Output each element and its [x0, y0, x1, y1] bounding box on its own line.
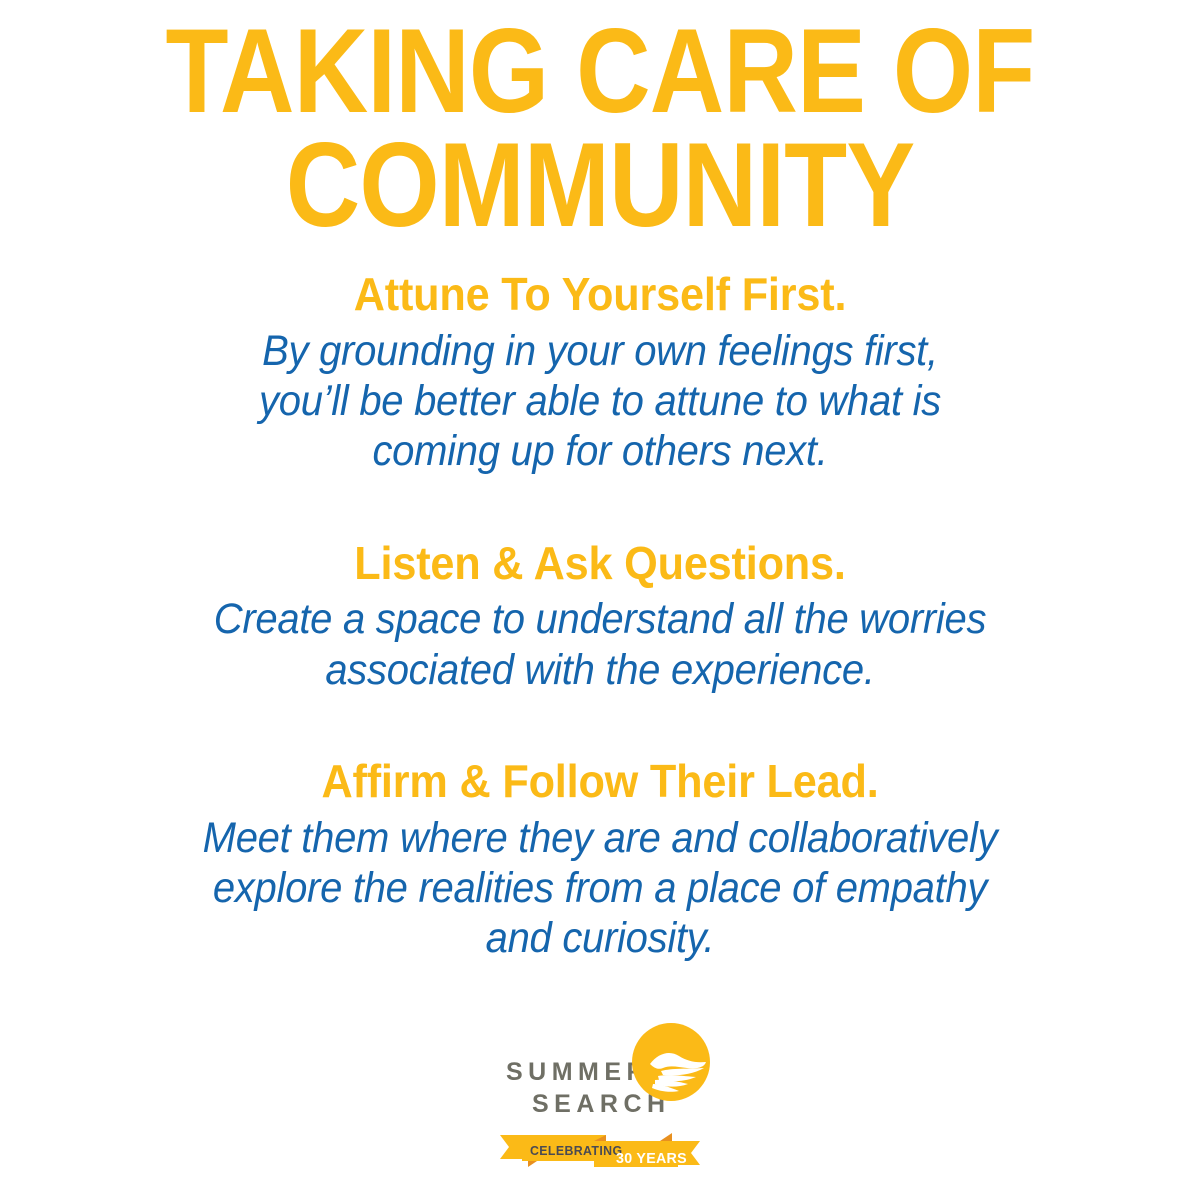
summer-search-logo: SUMMER SEARCH: [0, 1018, 1200, 1170]
sun-wing-icon: [632, 1023, 710, 1101]
logo-word-summer: SUMMER: [506, 1056, 650, 1088]
section-heading: Affirm & Follow Their Lead.: [36, 757, 1164, 807]
section-body: By grounding in your own feelings first,…: [42, 326, 1158, 477]
sections-container: Attune To Yourself First. By grounding i…: [0, 270, 1200, 963]
section-heading: Listen & Ask Questions.: [36, 539, 1164, 589]
title-block: TAKING CARE OF COMMUNITY: [0, 14, 1200, 242]
logo-mark-row: SUMMER SEARCH: [480, 1018, 720, 1118]
section-attune: Attune To Yourself First. By grounding i…: [0, 270, 1200, 477]
ribbon-label-celebrating: CELEBRATING: [530, 1143, 622, 1158]
section-heading: Attune To Yourself First.: [36, 270, 1164, 320]
poster-canvas: TAKING CARE OF COMMUNITY Attune To Yours…: [0, 0, 1200, 1200]
section-listen: Listen & Ask Questions. Create a space t…: [0, 539, 1200, 695]
ribbon-label-years: 30 YEARS: [616, 1150, 687, 1167]
section-affirm: Affirm & Follow Their Lead. Meet them wh…: [0, 757, 1200, 964]
section-body: Create a space to understand all the wor…: [42, 594, 1158, 695]
section-body: Meet them where they are and collaborati…: [42, 813, 1158, 964]
anniversary-ribbon: CELEBRATING 30 YEARS: [500, 1130, 700, 1170]
page-title: TAKING CARE OF COMMUNITY: [84, 14, 1116, 242]
